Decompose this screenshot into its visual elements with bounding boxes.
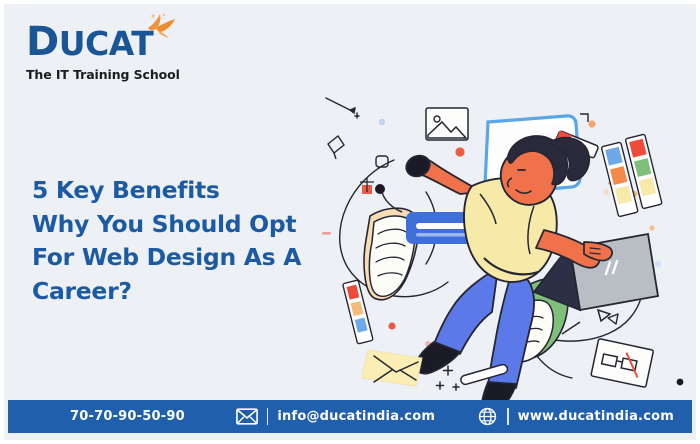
cursor-arrow-icon — [562, 310, 610, 334]
envelope-decor — [362, 350, 422, 386]
globe-icon — [476, 408, 498, 426]
footer-divider-email — [267, 408, 269, 425]
brand-logo[interactable]: DUCAT The IT Training School — [26, 22, 236, 82]
footer-divider-web — [507, 408, 509, 425]
footer-email-text: info@ducatindia.com — [277, 409, 435, 424]
footer-website[interactable]: www.ducatindia.com — [476, 408, 674, 426]
logo-wordmark: DUCAT — [26, 22, 236, 62]
footer-email[interactable]: info@ducatindia.com — [236, 408, 435, 426]
banner: DUCAT The IT Training School 5 Key Benef… — [0, 0, 700, 444]
logo-letters-ucat: UCAT — [59, 24, 154, 63]
photo-icon — [426, 108, 468, 140]
sunglasses-card — [591, 339, 654, 388]
bird-icon — [144, 10, 178, 36]
headline-line-1: 5 Key Benefits — [32, 174, 362, 208]
footer-phone-text: 70-70-90-50-90 — [70, 409, 185, 424]
web-designer-illustration — [322, 82, 700, 402]
logo-letter-d: D — [26, 19, 59, 65]
footer-phone[interactable]: 70-70-90-50-90 — [70, 409, 185, 424]
headline-line-2: Why You Should Opt — [32, 208, 362, 242]
logo-tagline: The IT Training School — [26, 67, 236, 82]
headline-line-4: Career? — [32, 275, 362, 309]
envelope-icon — [236, 408, 258, 426]
footer-website-text: www.ducatindia.com — [518, 409, 674, 424]
contact-footer-bar: 70-70-90-50-90 info@ducatindia.com — [8, 400, 692, 433]
headline: 5 Key Benefits Why You Should Opt For We… — [32, 174, 362, 308]
headline-line-3: For Web Design As A — [32, 241, 362, 275]
color-swatch-cards — [601, 134, 662, 217]
